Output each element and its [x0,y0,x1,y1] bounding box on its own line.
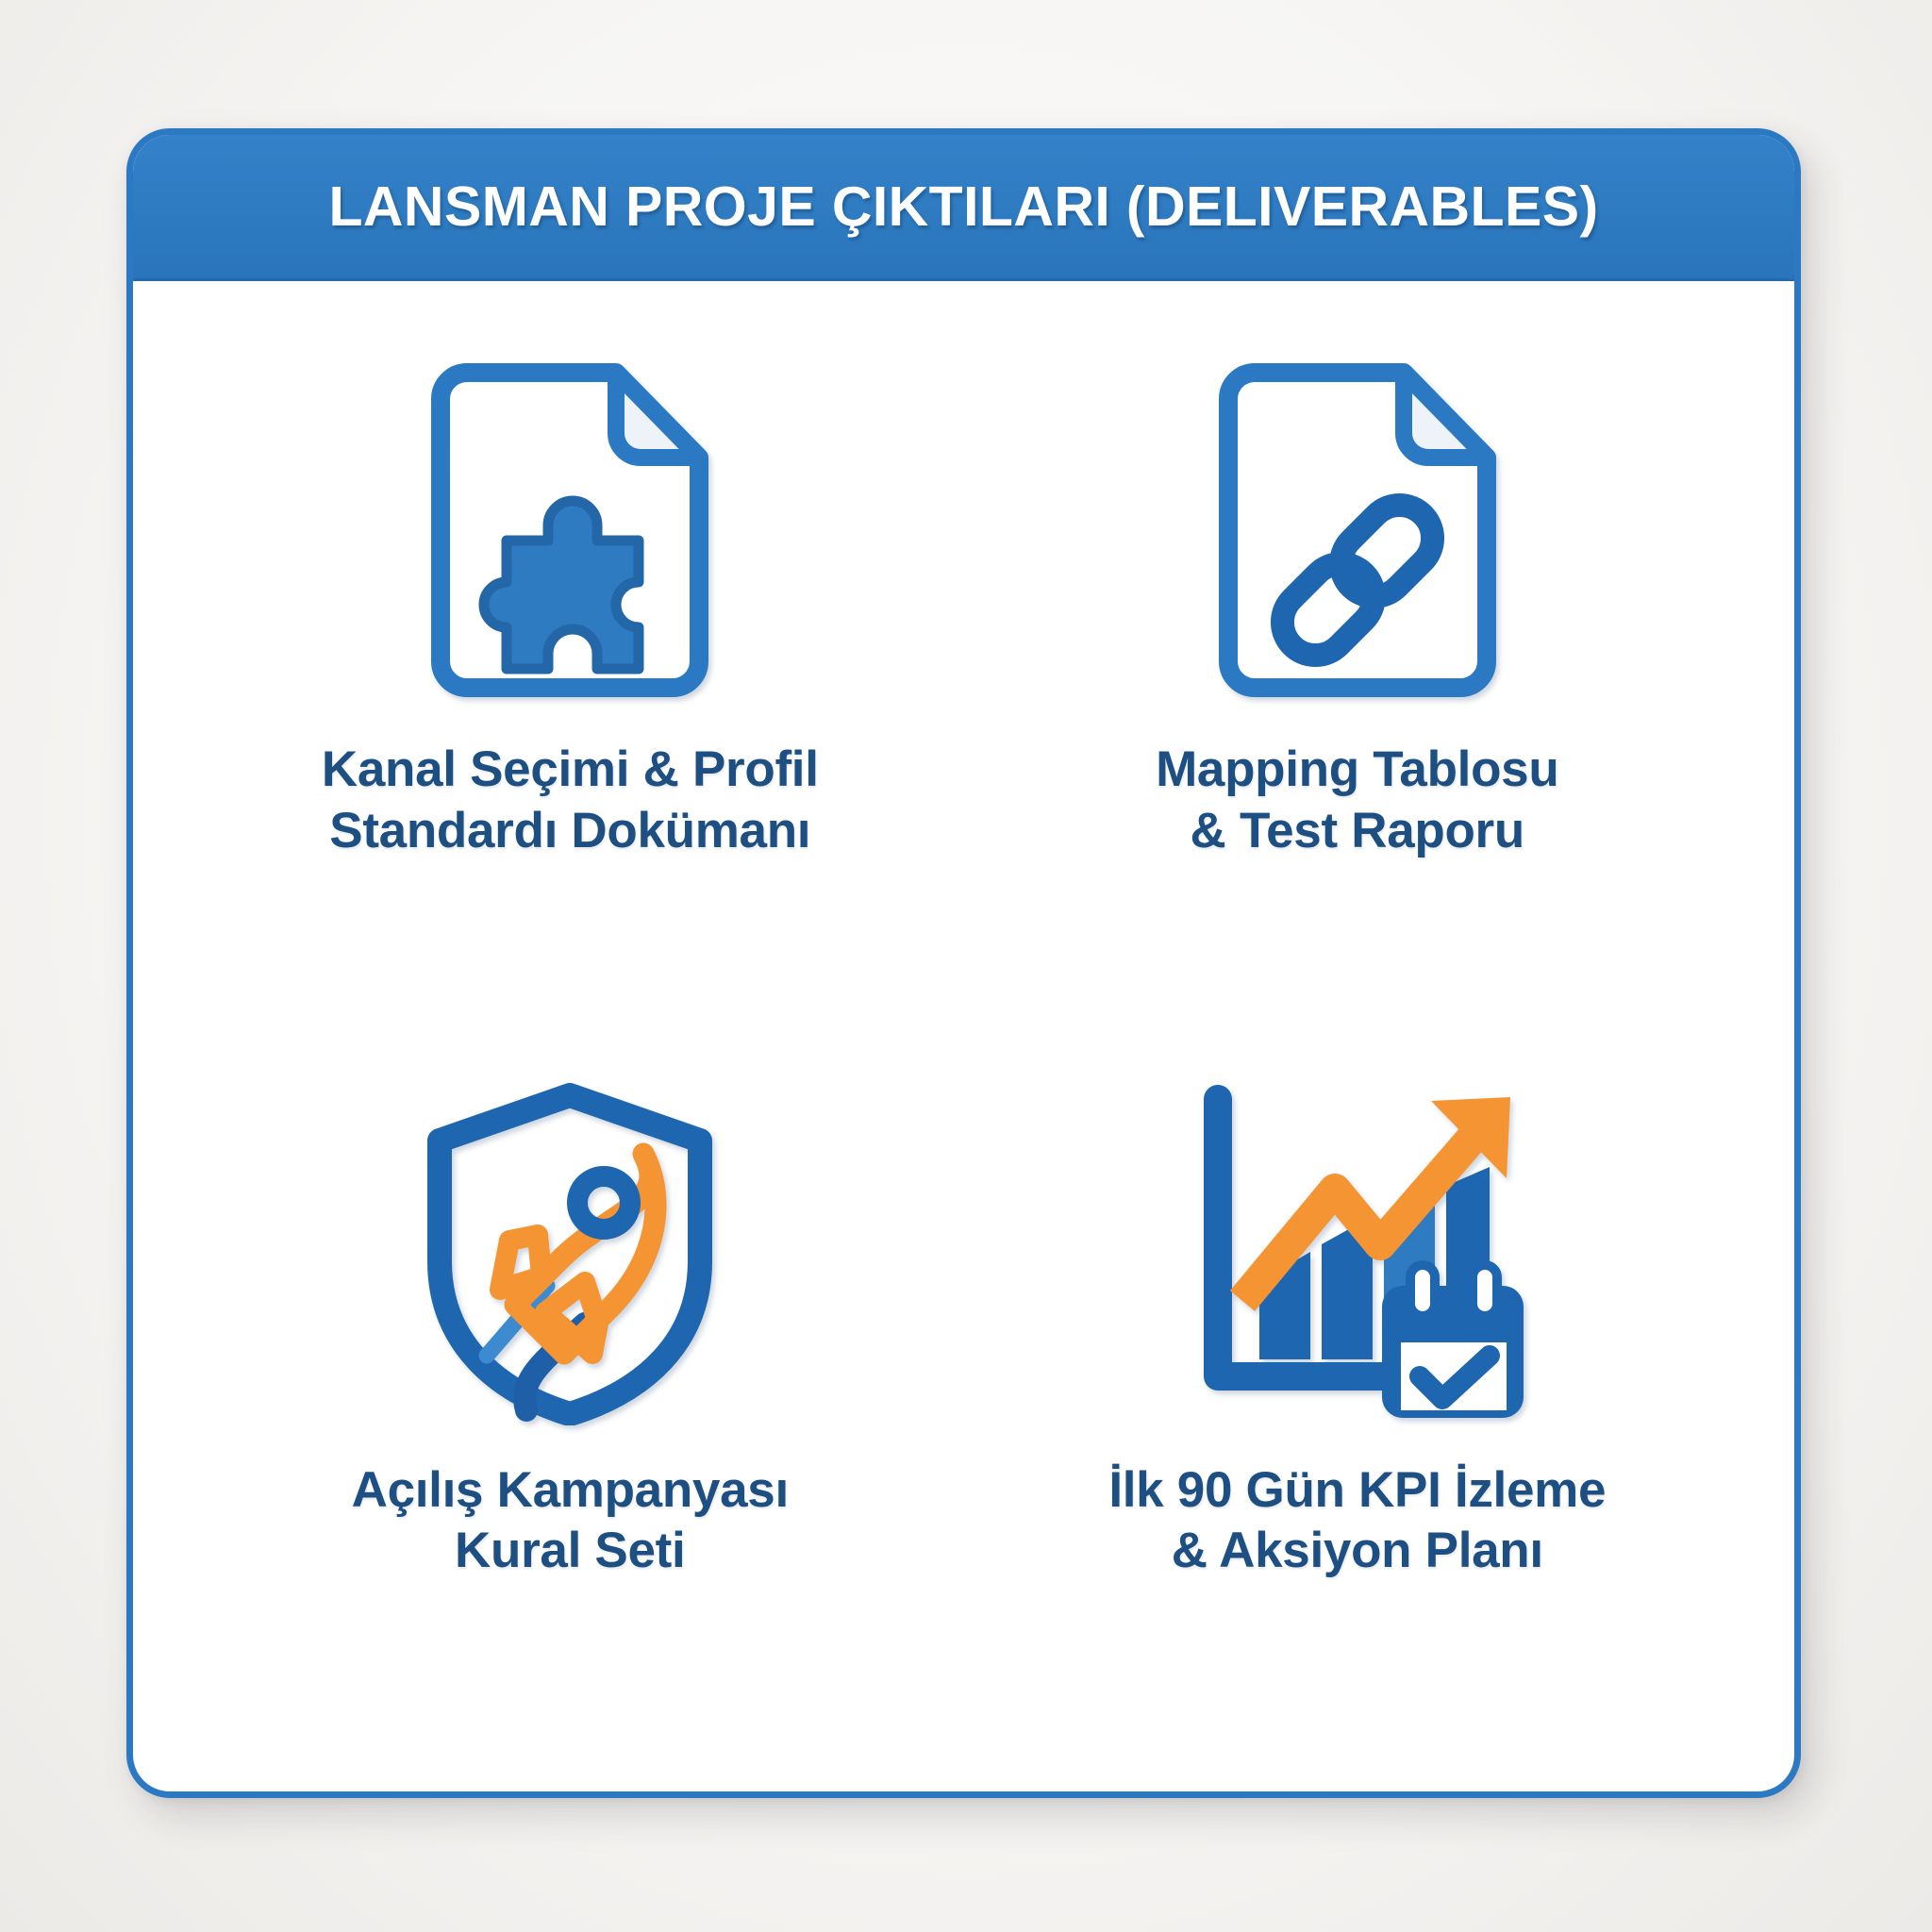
deliverable-tile-1[interactable]: Kanal Seçimi & Profil Standardı Dokümanı [176,313,964,1034]
deliverable-tile-2[interactable]: Mapping Tablosu & Test Raporu [964,313,1752,1034]
infographic-canvas: LANSMAN PROJE ÇIKTILARI (DELIVERABLES) [0,0,1932,1932]
deliverable-label-3: Açılış Kampanyası Kural Seti [352,1460,789,1582]
deliverable-tile-3[interactable]: Açılış Kampanyası Kural Seti [176,1034,964,1755]
deliverable-label-3-line2: Kural Seti [352,1521,789,1582]
document-link-icon [1202,341,1513,719]
deliverable-label-2: Mapping Tablosu & Test Raporu [1156,740,1558,861]
deliverable-label-2-line2: & Test Raporu [1156,801,1558,862]
deliverable-label-3-line1: Açılış Kampanyası [352,1462,789,1518]
card-header: LANSMAN PROJE ÇIKTILARI (DELIVERABLES) [133,135,1794,281]
deliverable-label-1: Kanal Seçimi & Profil Standardı Dokümanı [322,740,819,861]
deliverable-label-1-line2: Standardı Dokümanı [322,801,819,862]
deliverable-tile-4[interactable]: İlk 90 Gün KPI İzleme & Aksiyon Planı [964,1034,1752,1755]
page-title: LANSMAN PROJE ÇIKTILARI (DELIVERABLES) [328,179,1598,235]
deliverable-label-1-line1: Kanal Seçimi & Profil [322,741,819,797]
bar-chart-arrow-calendar-icon [1178,1062,1537,1440]
shield-rocket-icon [400,1062,740,1440]
document-puzzle-icon [414,341,725,719]
deliverable-label-2-line1: Mapping Tablosu [1156,741,1558,797]
deliverables-card: LANSMAN PROJE ÇIKTILARI (DELIVERABLES) [126,128,1801,1798]
deliverables-grid: Kanal Seçimi & Profil Standardı Dokümanı [133,281,1794,1791]
deliverable-label-4-line2: & Aksiyon Planı [1108,1521,1606,1582]
deliverable-label-4: İlk 90 Gün KPI İzleme & Aksiyon Planı [1108,1460,1606,1582]
deliverable-label-4-line1: İlk 90 Gün KPI İzleme [1108,1462,1606,1518]
